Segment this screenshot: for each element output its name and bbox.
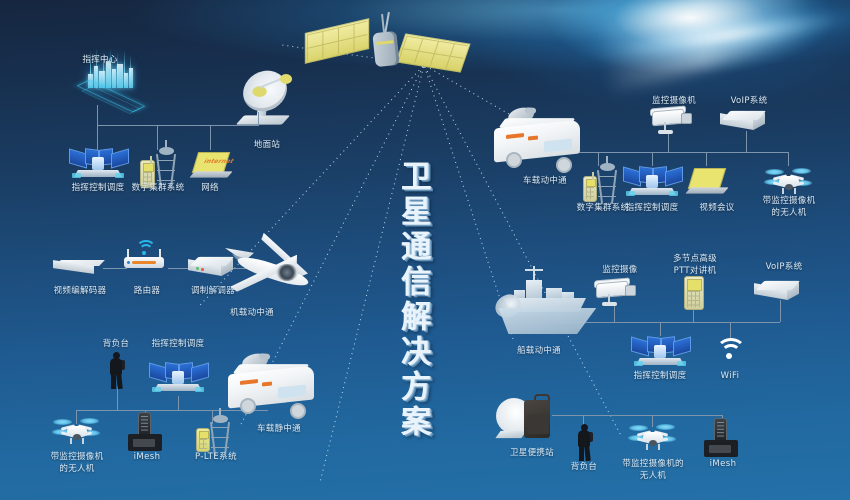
imesh-dock-icon [704,424,742,460]
voip-box-icon [760,278,806,304]
title-char: 解 [385,299,447,335]
command-console-icon [68,148,128,178]
command-console-icon [622,166,682,196]
command-center-label: 指挥中心 [55,55,145,66]
plte-tower-icon [196,416,236,456]
title-char: 方 [385,369,447,405]
wifi-label: WiFi [685,371,775,382]
plte-label: P-LTE系统 [171,452,261,463]
camera-drone-icon [766,168,812,194]
voip-1-label: VoIP系统 [704,96,794,107]
title-char: 决 [385,334,447,370]
portable-satellite-station-icon [496,398,558,446]
cctv-camera-icon [596,280,640,308]
video-codec-icon [58,258,106,276]
ship-icon [490,272,608,338]
drone-1-label-line2: 的无人机 [32,464,122,475]
ptt-label-line2: PTT对讲机 [650,266,740,277]
cctv-camera-icon [652,108,696,136]
camera-drone-icon [630,424,676,450]
router-icon [124,248,170,276]
vehicle-sots-label: 车载静中通 [234,424,324,435]
voip-box-icon [726,108,772,134]
vehicle-sotm-label: 车载动中通 [500,176,590,187]
ground-station-label: 地面站 [222,140,312,151]
trunking-tower-icon [583,162,623,204]
imesh-2-label: iMesh [678,459,768,470]
laptop-screen-text: internet [202,158,235,165]
laptop-internet-icon: internet [192,152,234,182]
ptt-label-line1: 多节点高级 [650,254,740,265]
drone-2-label-line1: 带监控摄像机 [744,196,834,207]
page-title: 卫 星 通 信 解 决 方 案 [385,160,447,440]
airplane-icon [214,238,324,304]
drone-3-label-line2: 无人机 [608,471,698,482]
airborne-sotm-label: 机载动中通 [207,308,297,319]
portable-station-label: 卫星便携站 [487,448,577,459]
title-char: 案 [385,404,447,440]
title-char: 信 [385,264,447,300]
infographic-canvas: 卫 星 通 信 解 决 方 案 [0,0,850,500]
command-console-icon [148,362,208,392]
ptt-radio-icon [684,276,706,310]
camera-drone-icon [54,418,100,444]
trunking-tower-icon [140,146,180,188]
title-char: 星 [385,194,447,230]
wifi-icon [716,338,746,360]
title-char: 卫 [385,159,447,195]
title-char: 通 [385,229,447,265]
drone-2-label-line2: 的无人机 [744,208,834,219]
cmd-ctrl-dispatch-2-label: 指挥控制调度 [133,339,223,350]
network-label: 网络 [165,183,255,194]
backpack-operator-icon [576,424,592,460]
satellite-icon [352,8,492,78]
ship-sotm-label: 船载动中通 [494,346,584,357]
laptop-icon [688,168,730,198]
command-console-icon [630,336,690,366]
imesh-dock-icon [128,418,166,454]
van-icon [228,356,328,422]
voip-2-label: VoIP系统 [739,262,829,273]
van-icon [494,110,594,174]
backpack-operator-icon [108,352,124,388]
